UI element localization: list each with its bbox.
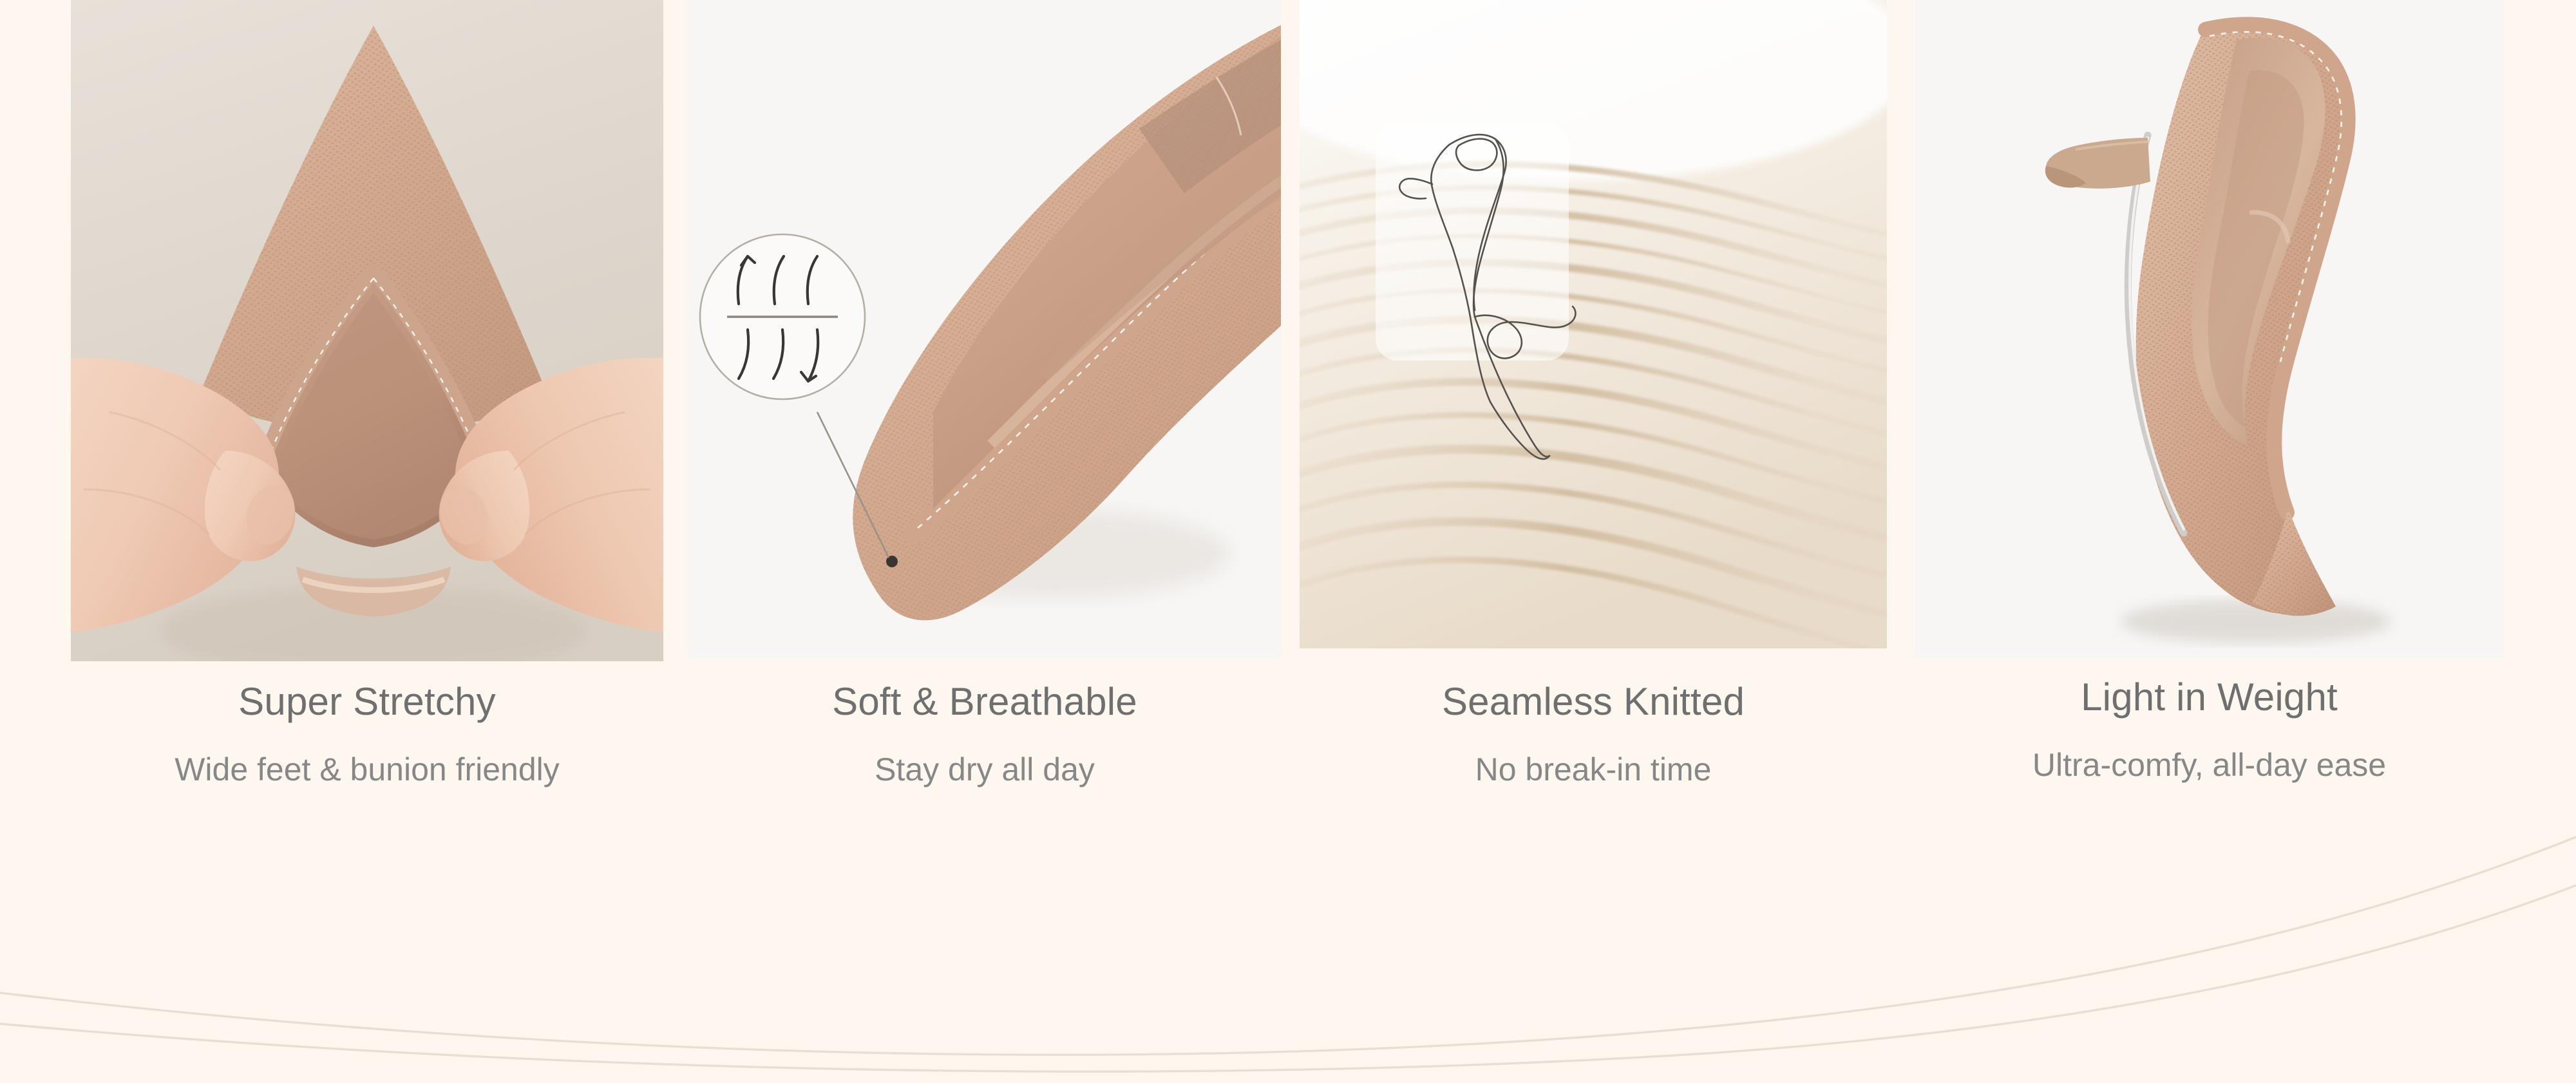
airflow-badge bbox=[700, 234, 865, 399]
panel-title: Super Stretchy bbox=[71, 679, 663, 724]
panel-subtitle: Wide feet & bunion friendly bbox=[71, 751, 663, 788]
panel-subtitle: Ultra-comfy, all-day ease bbox=[1915, 746, 2504, 784]
panel-caption-super-stretchy: Super Stretchy Wide feet & bunion friend… bbox=[71, 679, 663, 788]
feature-strip: Super Stretchy Wide feet & bunion friend… bbox=[0, 0, 2576, 1083]
feature-panels: Super Stretchy Wide feet & bunion friend… bbox=[0, 0, 2576, 882]
panel-caption-soft-breathable: Soft & Breathable Stay dry all day bbox=[688, 679, 1281, 788]
knit-pump-product-illustration bbox=[1915, 0, 2504, 658]
panel-caption-seamless-knitted: Seamless Knitted No break-in time bbox=[1300, 679, 1887, 788]
panel-subtitle: No break-in time bbox=[1300, 751, 1887, 788]
knit-texture-sketch-illustration bbox=[1300, 0, 1887, 648]
panel-title: Seamless Knitted bbox=[1300, 679, 1887, 724]
panel-subtitle: Stay dry all day bbox=[688, 751, 1281, 788]
panel-caption-light-in-weight: Light in Weight Ultra-comfy, all-day eas… bbox=[1915, 675, 2504, 784]
panel-image-seamless-knitted bbox=[1300, 0, 1887, 648]
panel-image-super-stretchy bbox=[71, 0, 663, 661]
panel-title: Soft & Breathable bbox=[688, 679, 1281, 724]
panel-image-soft-breathable bbox=[688, 0, 1281, 658]
stretch-demo-illustration bbox=[71, 0, 663, 661]
decor-curve-lower bbox=[0, 885, 2576, 1071]
panel-title: Light in Weight bbox=[1915, 675, 2504, 719]
breathable-shoe-illustration bbox=[688, 0, 1281, 658]
panel-image-light-in-weight bbox=[1915, 0, 2504, 658]
